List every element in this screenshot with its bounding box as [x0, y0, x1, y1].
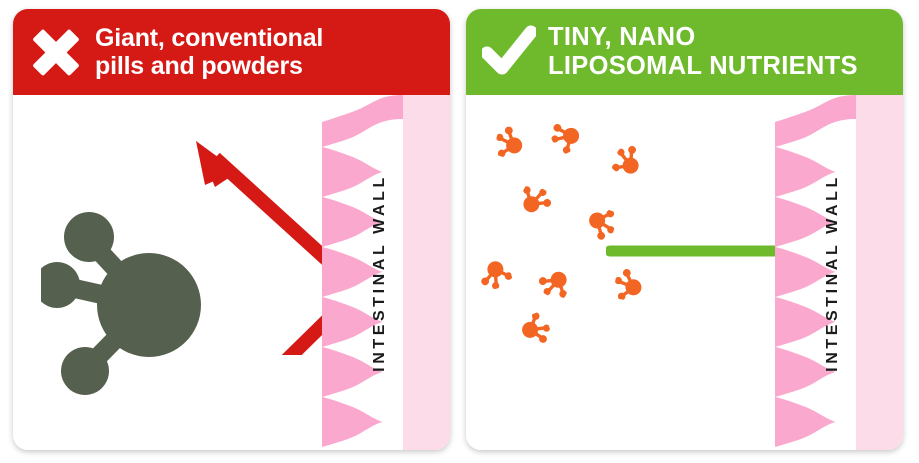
wall-strip [856, 95, 903, 450]
panel-header-liposomal: TINY, NANO LIPOSOMAL NUTRIENTS [466, 9, 903, 95]
panel-body-liposomal: INTESTINAL WALL [466, 95, 903, 450]
panel-title-liposomal: TINY, NANO LIPOSOMAL NUTRIENTS [548, 23, 858, 81]
intestinal-wall-right: INTESTINAL WALL [775, 95, 903, 450]
panel-body-conventional: INTESTINAL WALL [13, 95, 450, 450]
intestinal-wall-label: INTESTINAL WALL [356, 95, 403, 450]
nano-molecule-icon [545, 111, 590, 156]
panel-conventional: Giant, conventional pills and powders [13, 9, 450, 450]
x-mark-icon [29, 25, 83, 79]
nano-molecule-icon [607, 138, 655, 186]
panel-title-conventional: Giant, conventional pills and powders [95, 24, 323, 81]
infographic-root: Giant, conventional pills and powders [0, 0, 919, 463]
wall-strip [403, 95, 450, 450]
check-mark-icon [482, 25, 536, 79]
panel-liposomal: TINY, NANO LIPOSOMAL NUTRIENTS [466, 9, 903, 450]
nano-molecule-icon [511, 310, 555, 354]
nano-molecule-icon [492, 121, 534, 163]
nano-molecule-icon [532, 257, 578, 303]
nano-molecule-icon [512, 181, 558, 227]
nano-molecule-icon [472, 251, 514, 293]
panel-header-conventional: Giant, conventional pills and powders [13, 9, 450, 95]
intestinal-wall-label: INTESTINAL WALL [809, 95, 856, 450]
intestinal-wall-left: INTESTINAL WALL [322, 95, 450, 450]
